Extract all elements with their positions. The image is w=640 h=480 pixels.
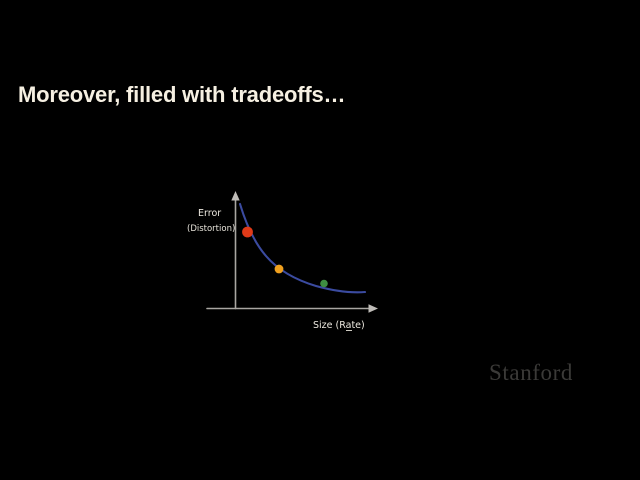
page-title: Moreover, filled with tradeoffs… — [18, 82, 345, 108]
x-axis-label: Size (Rate) — [313, 320, 365, 331]
data-point-green — [320, 280, 328, 288]
slide-canvas: Moreover, filled with tradeoffs… — [0, 0, 640, 480]
x-axis — [207, 304, 378, 312]
y-axis-label-sub: (Distortion) — [187, 224, 235, 234]
curve-series — [240, 204, 365, 292]
data-point-red — [242, 227, 253, 238]
rate-distortion-chart: Error (Distortion) Size (Rate) — [180, 180, 400, 340]
stanford-wordmark: Stanford — [489, 360, 573, 386]
y-axis-label: Error — [198, 208, 221, 219]
y-axis — [231, 191, 239, 309]
data-point-orange — [275, 265, 284, 274]
